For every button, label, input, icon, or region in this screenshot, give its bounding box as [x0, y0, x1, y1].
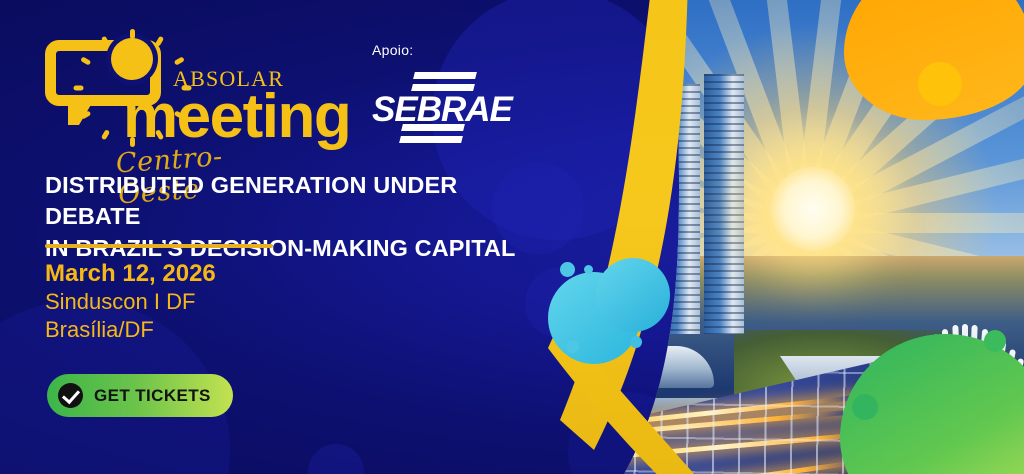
- cyan-dot: [630, 336, 642, 348]
- gold-divider: [45, 244, 273, 248]
- absolar-logo: ABSOLAR meeting Centro-Oeste: [45, 18, 245, 168]
- orange-dot: [918, 62, 962, 106]
- sebrae-bar: [401, 124, 465, 131]
- sun-ray: [130, 137, 135, 147]
- event-date: March 12, 2026: [45, 260, 216, 288]
- sun-ray: [101, 129, 110, 140]
- congress-tower-right: [704, 74, 744, 334]
- sun-ray: [155, 36, 164, 47]
- sponsor-label: Apoio:: [372, 42, 542, 58]
- green-dot: [984, 330, 1006, 352]
- get-tickets-button[interactable]: GET TICKETS: [47, 374, 233, 417]
- venue-name: Sinduscon I DF: [45, 288, 195, 316]
- sebrae-bar: [413, 72, 477, 79]
- sponsor-block: Apoio: SEBRAE: [372, 42, 542, 146]
- sun-ray: [74, 86, 84, 91]
- check-circle-icon: [58, 383, 83, 408]
- event-location: Sinduscon I DF Brasília/DF: [45, 288, 195, 344]
- sun-icon: [111, 38, 153, 80]
- headline-line-1: DISTRIBUTED GENERATION UNDER DEBATE: [45, 170, 545, 233]
- meeting-wordmark: meeting: [123, 86, 350, 148]
- get-tickets-label: GET TICKETS: [94, 386, 211, 406]
- sun-ray: [182, 86, 192, 91]
- sebrae-bar: [399, 136, 463, 143]
- cyan-blob: [596, 258, 670, 332]
- sun-disc: [771, 167, 855, 251]
- headline: DISTRIBUTED GENERATION UNDER DEBATE IN B…: [45, 170, 545, 264]
- sun-ray: [174, 56, 185, 65]
- green-dot: [852, 394, 878, 420]
- sebrae-logo: SEBRAE: [372, 72, 522, 146]
- sun-ray: [130, 29, 135, 39]
- event-banner: ABSOLAR meeting Centro-Oeste Apoio: SEBR…: [0, 0, 1024, 474]
- venue-city: Brasília/DF: [45, 316, 195, 344]
- banner-content: ABSOLAR meeting Centro-Oeste Apoio: SEBR…: [0, 0, 600, 474]
